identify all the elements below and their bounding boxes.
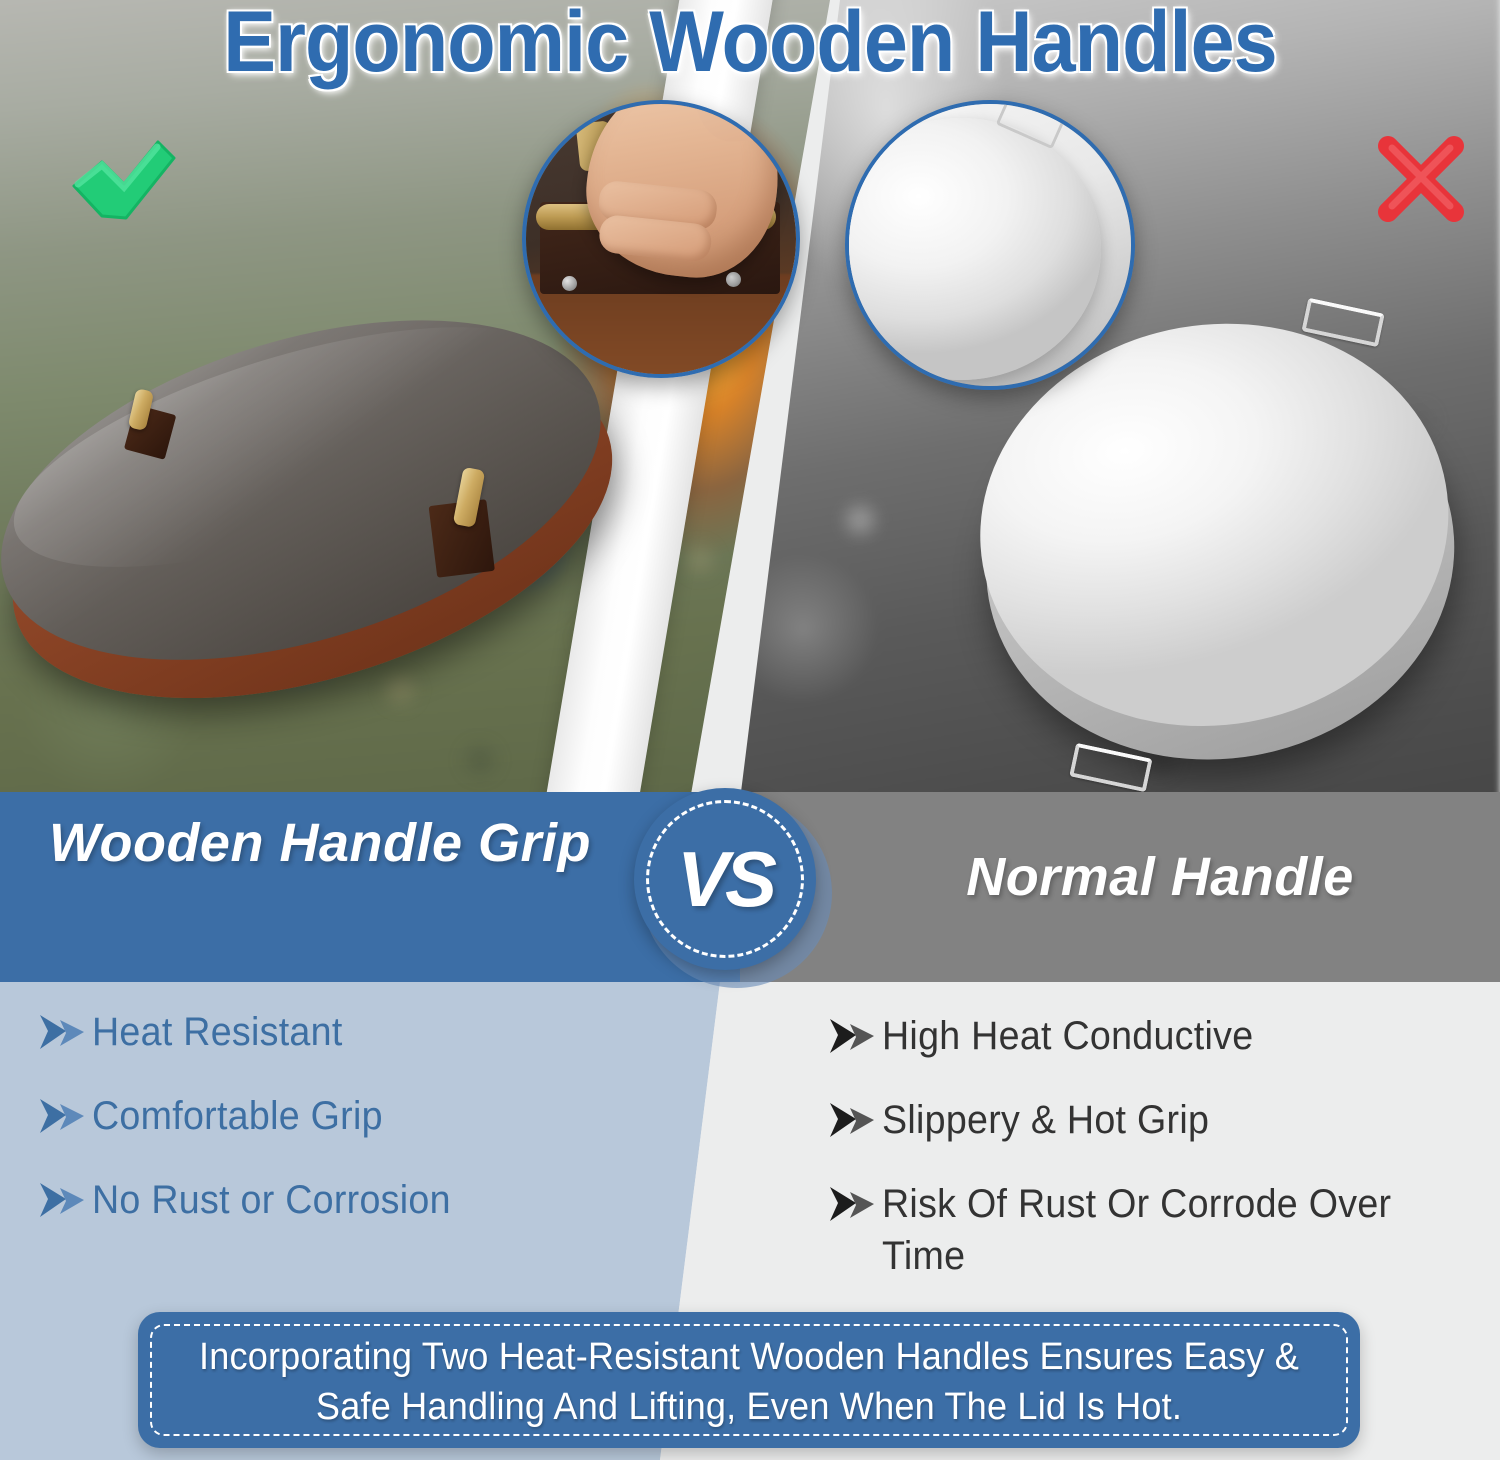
inset-screw-left (562, 276, 577, 291)
page-title: Ergonomic Wooden Handles (60, 0, 1440, 88)
feature-list-wooden: Heat Resistant Comfortable Grip (36, 1006, 676, 1258)
double-chevron-icon (36, 1090, 92, 1141)
feature-item: Comfortable Grip (36, 1090, 676, 1142)
vs-badge-label: VS (634, 788, 816, 970)
inset-screw-right (726, 272, 741, 287)
comparison-label-right: Normal Handle (840, 844, 1480, 910)
wooden-handle-front (422, 468, 510, 577)
feature-item: No Rust or Corrosion (36, 1174, 676, 1226)
inset-hand-grip (522, 100, 800, 378)
comparison-label-left: Wooden Handle Grip (0, 810, 640, 876)
vs-badge: VS (634, 788, 834, 988)
feature-list-normal: High Heat Conductive Slippery & Hot Grip (826, 1010, 1446, 1314)
inset-steel-lid (845, 100, 1135, 390)
infographic-root: Ergonomic Wooden Handles Wooden Handle G… (0, 0, 1500, 1460)
double-chevron-icon (36, 1006, 92, 1057)
double-chevron-icon (826, 1010, 882, 1061)
double-chevron-icon (826, 1178, 882, 1229)
hero-photo-area: Ergonomic Wooden Handles (0, 0, 1500, 800)
green-check-icon (62, 128, 178, 234)
feature-item: High Heat Conductive (826, 1010, 1446, 1062)
feature-label: Heat Resistant (92, 1006, 343, 1058)
feature-label: Risk Of Rust Or Corrode Over Time (882, 1178, 1408, 1282)
feature-item: Heat Resistant (36, 1006, 676, 1058)
feature-item: Slippery & Hot Grip (826, 1094, 1446, 1146)
feature-label: Comfortable Grip (92, 1090, 383, 1142)
bottom-banner: Incorporating Two Heat-Resistant Wooden … (138, 1312, 1360, 1448)
banner-text: Incorporating Two Heat-Resistant Wooden … (197, 1332, 1301, 1432)
wooden-handle-rear (113, 385, 189, 461)
double-chevron-icon (36, 1174, 92, 1225)
double-chevron-icon (826, 1094, 882, 1145)
feature-item: Risk Of Rust Or Corrode Over Time (826, 1178, 1446, 1282)
feature-label: High Heat Conductive (882, 1010, 1253, 1062)
feature-label: No Rust or Corrosion (92, 1174, 451, 1226)
red-cross-icon (1372, 130, 1470, 228)
feature-label: Slippery & Hot Grip (882, 1094, 1209, 1146)
